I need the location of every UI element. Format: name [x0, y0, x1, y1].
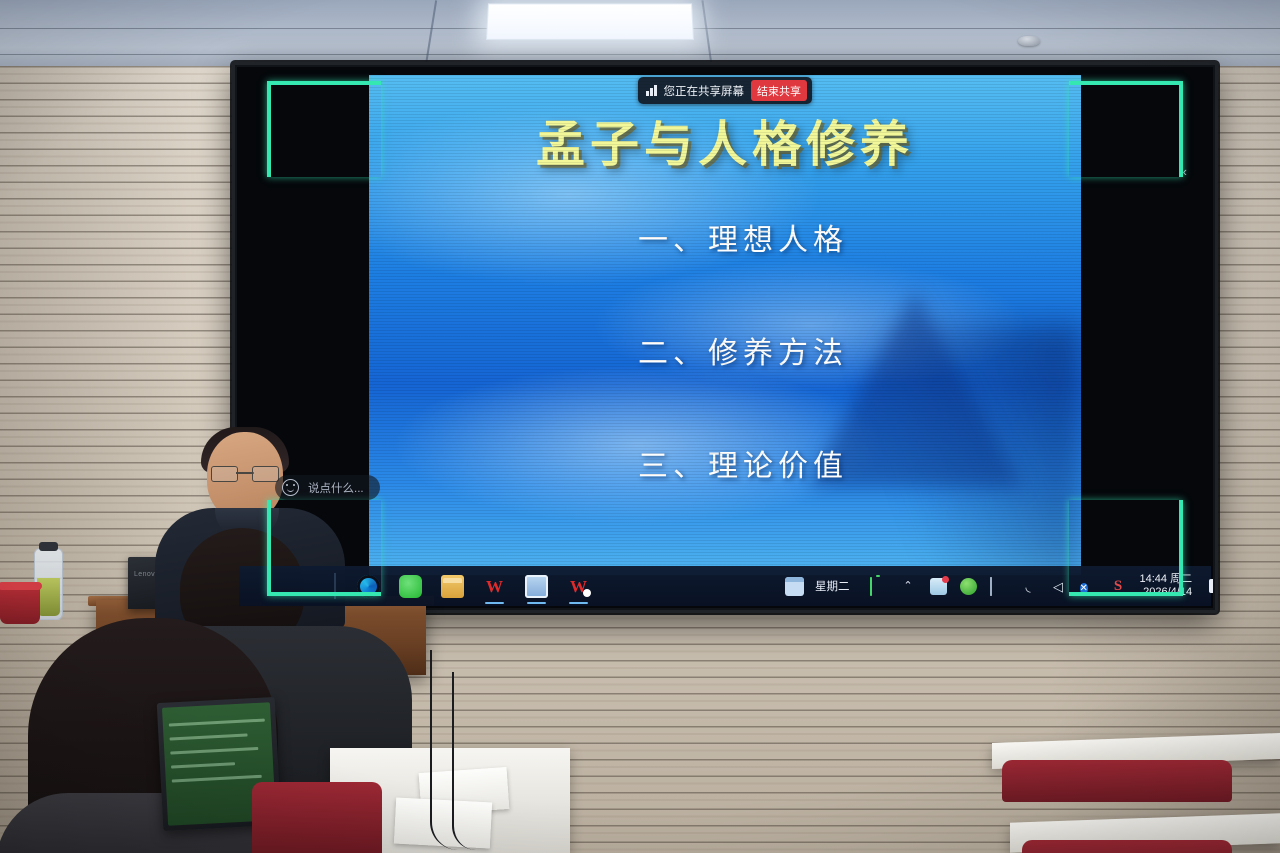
- screen-record-icon[interactable]: [1209, 579, 1213, 593]
- right-chair-2: [1022, 840, 1232, 853]
- battery-icon[interactable]: [870, 578, 887, 595]
- chat-input[interactable]: 说点什么...: [275, 475, 380, 500]
- screen-share-banner: 您正在共享屏幕 结束共享: [638, 77, 812, 104]
- capture-bracket-top-right: [1069, 81, 1183, 177]
- calendar-icon[interactable]: [785, 577, 804, 596]
- chat-placeholder: 说点什么...: [308, 480, 364, 496]
- smoke-detector-icon: [1018, 36, 1040, 46]
- red-cup-left: [0, 586, 40, 624]
- wall-display: 孟子与人格修养 一、理想人格 二、修养方法 三、理论价值 您正在共享屏幕 结束共…: [232, 62, 1218, 613]
- windows-taskbar: 女生被5名舍友殴打 搜索一下 W W 星期二 ⌃: [239, 566, 1211, 606]
- weekday-label: 星期二: [815, 578, 850, 594]
- cable-2: [452, 672, 476, 850]
- wifi-icon[interactable]: ◟: [1020, 578, 1037, 595]
- presentation-slide: 孟子与人格修养 一、理想人格 二、修养方法 三、理论价值: [369, 75, 1081, 575]
- display-screen: 孟子与人格修养 一、理想人格 二、修养方法 三、理论价值 您正在共享屏幕 结束共…: [237, 67, 1213, 608]
- wps-presentation-icon[interactable]: [525, 575, 548, 598]
- screen-share-status: 您正在共享屏幕: [664, 83, 745, 99]
- green-app-icon[interactable]: [960, 578, 977, 595]
- capture-bracket-bottom-left: [267, 500, 381, 596]
- taskbar-calendar[interactable]: 星期二: [785, 577, 850, 596]
- collapse-chevron-icon[interactable]: ‹: [1183, 165, 1187, 178]
- ceiling-light-panel: [486, 3, 694, 40]
- taskbar-right-icons: [1209, 579, 1213, 594]
- keyboard-icon[interactable]: [990, 578, 1007, 595]
- wps-office-icon[interactable]: W: [567, 575, 590, 598]
- wps-writer-icon[interactable]: W: [483, 575, 506, 598]
- screenshot-root: 孟子与人格修养 一、理想人格 二、修养方法 三、理论价值 您正在共享屏幕 结束共…: [0, 0, 1280, 853]
- taskbar-app-icons: W W: [357, 575, 590, 598]
- wechat-icon[interactable]: [399, 575, 422, 598]
- capture-bracket-bottom-right: [1069, 500, 1183, 596]
- smiley-icon[interactable]: [282, 479, 299, 496]
- right-chair-1: [1002, 760, 1232, 802]
- ceiling: [0, 0, 1280, 68]
- file-explorer-icon[interactable]: [441, 575, 464, 598]
- chevron-up-icon[interactable]: ⌃: [900, 578, 917, 595]
- capture-bracket-top-left: [267, 81, 381, 177]
- glasses-icon: [211, 466, 279, 481]
- stop-share-button[interactable]: 结束共享: [751, 80, 807, 101]
- signal-bars-icon: [646, 85, 657, 96]
- volume-mute-icon[interactable]: ◁: [1050, 578, 1067, 595]
- front-chair: [252, 782, 382, 853]
- notes-app-icon[interactable]: [930, 578, 947, 595]
